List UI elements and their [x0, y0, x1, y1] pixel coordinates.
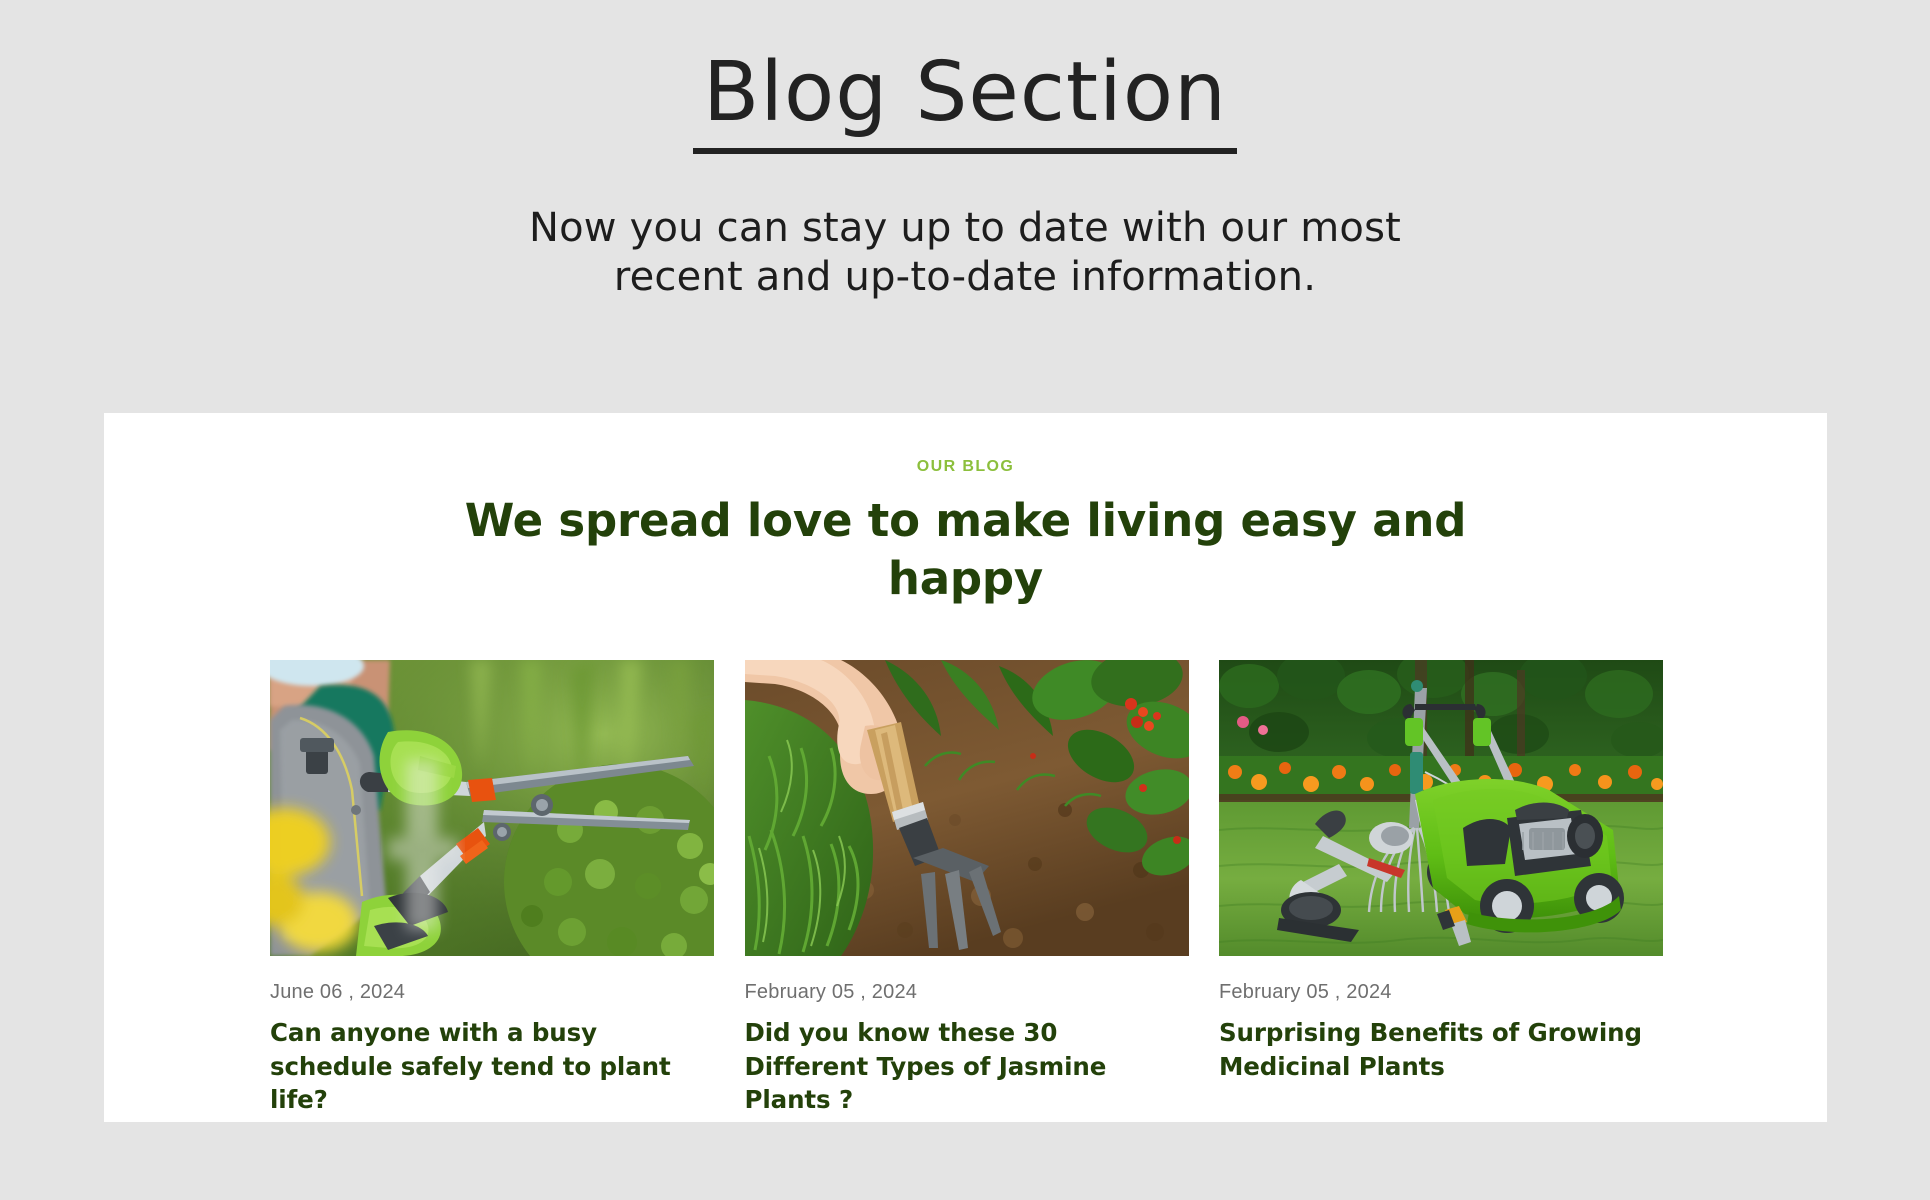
- blog-card-date: February 05 , 2024: [745, 981, 1189, 1004]
- page-title: Blog Section: [693, 52, 1237, 154]
- blog-card-title[interactable]: Did you know these 30 Different Types of…: [745, 1016, 1189, 1117]
- blog-panel: OUR BLOG We spread love to make living e…: [104, 413, 1827, 1122]
- blog-card[interactable]: February 05 , 2024 Did you know these 30…: [745, 660, 1189, 1117]
- blog-card-date: February 05 , 2024: [1219, 981, 1663, 1004]
- blog-heading: We spread love to make living easy and h…: [416, 492, 1516, 607]
- page-subtitle: Now you can stay up to date with our mos…: [465, 204, 1465, 302]
- blog-section-page: Blog Section Now you can stay up to date…: [0, 0, 1930, 1200]
- blog-card[interactable]: June 06 , 2024 Can anyone with a busy sc…: [270, 660, 714, 1117]
- blog-cards-row: June 06 , 2024 Can anyone with a busy sc…: [270, 660, 1663, 1117]
- page-header: Blog Section Now you can stay up to date…: [0, 0, 1930, 302]
- blog-eyebrow-label: OUR BLOG: [104, 458, 1827, 476]
- gardener-trimming-shrub-with-hedge-shears-image: [270, 660, 714, 956]
- blog-card[interactable]: February 05 , 2024 Surprising Benefits o…: [1219, 660, 1663, 1117]
- blog-card-thumbnail[interactable]: [745, 660, 1189, 956]
- blog-card-date: June 06 , 2024: [270, 981, 714, 1004]
- green-lawn-mower-trimmer-and-rake-on-lawn-image: [1219, 660, 1663, 956]
- blog-card-thumbnail[interactable]: [1219, 660, 1663, 956]
- blog-card-title[interactable]: Surprising Benefits of Growing Medicinal…: [1219, 1016, 1663, 1083]
- blog-card-title[interactable]: Can anyone with a busy schedule safely t…: [270, 1016, 714, 1117]
- blog-card-thumbnail[interactable]: [270, 660, 714, 956]
- hand-digging-soil-with-garden-hand-fork-image: [745, 660, 1189, 956]
